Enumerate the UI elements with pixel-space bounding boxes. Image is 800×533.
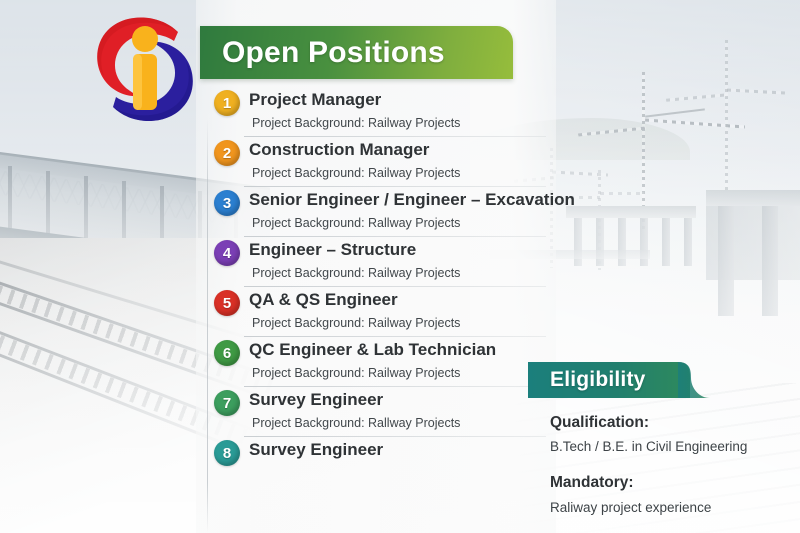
company-logo	[86, 8, 204, 130]
qualification-label: Qualification:	[550, 413, 800, 433]
position-subtitle: Project Background: Railway Projects	[249, 364, 496, 382]
position-number-badge: 6	[214, 340, 240, 366]
position-number-badge: 4	[214, 240, 240, 266]
position-title: Construction Manager	[249, 139, 460, 162]
open-positions-title: Open Positions	[200, 36, 445, 70]
mandatory-value: Raliway project experience	[550, 499, 800, 517]
position-title: Senior Engineer / Engineer – Excavation	[249, 189, 575, 212]
list-item[interactable]: 6 QC Engineer & Lab Technician Project B…	[214, 336, 544, 386]
position-subtitle: Project Background: Railway Projects	[249, 314, 460, 332]
content-panel-left-rule	[207, 118, 208, 533]
mandatory-label: Mandatory:	[550, 473, 800, 493]
eligibility-banner: Eligibility	[528, 362, 713, 398]
position-number-badge: 5	[214, 290, 240, 316]
open-positions-banner: Open Positions	[200, 26, 513, 79]
eligibility-title: Eligibility	[550, 368, 646, 392]
position-subtitle: Project Background: Railway Projects	[249, 114, 460, 132]
position-subtitle: Project Background: Railway Projects	[249, 164, 460, 182]
positions-list: 1 Project Manager Project Background: Ra…	[214, 86, 544, 470]
list-item[interactable]: 3 Senior Engineer / Engineer – Excavatio…	[214, 186, 544, 236]
position-title: QC Engineer & Lab Technician	[249, 339, 496, 362]
list-item[interactable]: 4 Engineer – Structure Project Backgroun…	[214, 236, 544, 286]
poster-canvas: Open Positions 1 Project Manager Project…	[0, 0, 800, 533]
position-subtitle: Project Background: Rallway Projects	[249, 214, 575, 232]
position-subtitle: Project Background: Rallway Projects	[249, 414, 460, 432]
position-title: Survey Engineer	[249, 439, 383, 462]
qualification-value: B.Tech / B.E. in Civil Engineering	[550, 438, 800, 456]
position-subtitle: Project Background: Railway Projects	[249, 264, 460, 282]
position-title: QA & QS Engineer	[249, 289, 460, 312]
position-title: Survey Engineer	[249, 389, 460, 412]
eligibility-section: Eligibility Qualification: B.Tech / B.E.…	[528, 362, 800, 517]
list-item[interactable]: 2 Construction Manager Project Backgroun…	[214, 136, 544, 186]
position-title: Project Manager	[249, 89, 460, 112]
position-title: Engineer – Structure	[249, 239, 460, 262]
list-item[interactable]: 1 Project Manager Project Background: Ra…	[214, 86, 544, 136]
position-number-badge: 8	[214, 440, 240, 466]
position-number-badge: 2	[214, 140, 240, 166]
position-number-badge: 3	[214, 190, 240, 216]
list-item[interactable]: 7 Survey Engineer Project Background: Ra…	[214, 386, 544, 436]
position-number-badge: 7	[214, 390, 240, 416]
list-item[interactable]: 5 QA & QS Engineer Project Background: R…	[214, 286, 544, 336]
position-number-badge: 1	[214, 90, 240, 116]
list-item[interactable]: 8 Survey Engineer	[214, 436, 544, 470]
